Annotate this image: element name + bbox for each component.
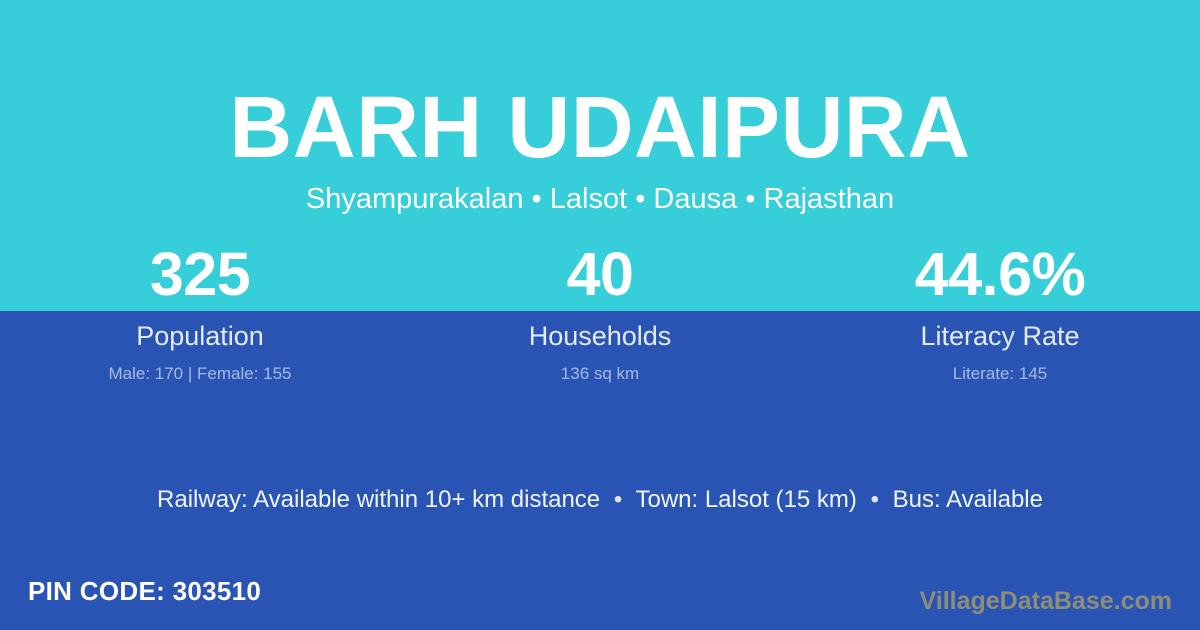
amenity-separator: • [607,484,629,516]
stat-sublabel: Male: 170 | Female: 155 [0,363,400,385]
amenity-bus: Bus: Available [893,486,1043,513]
stat-sublabel: Literate: 145 [800,363,1200,385]
stats-row: 325 Population Male: 170 | Female: 155 4… [0,243,1200,383]
stat-sublabel: 136 sq km [400,363,800,385]
village-info-card: BARH UDAIPURA Shyampurakalan • Lalsot • … [0,0,1200,630]
site-watermark: VillageDataBase.com [920,586,1172,616]
amenity-town: Town: Lalsot (15 km) [635,486,856,513]
stat-value: 40 [400,243,800,311]
amenities-line: Railway: Available within 10+ km distanc… [0,484,1200,516]
pin-code-label: PIN CODE: 303510 [28,575,261,607]
amenity-separator: • [864,484,886,516]
stat-households: 40 Households 136 sq km [400,243,800,383]
stat-population: 325 Population Male: 170 | Female: 155 [0,243,400,383]
stat-label: Population [0,320,400,352]
stat-label: Households [400,320,800,352]
stat-literacy-rate: 44.6% Literacy Rate Literate: 145 [800,243,1200,383]
stat-value: 44.6% [800,243,1200,311]
amenity-railway: Railway: Available within 10+ km distanc… [157,486,600,513]
stat-label: Literacy Rate [800,320,1200,352]
page-title: BARH UDAIPURA [0,84,1200,172]
stat-value: 325 [0,243,400,311]
breadcrumb: Shyampurakalan • Lalsot • Dausa • Rajast… [0,181,1200,217]
